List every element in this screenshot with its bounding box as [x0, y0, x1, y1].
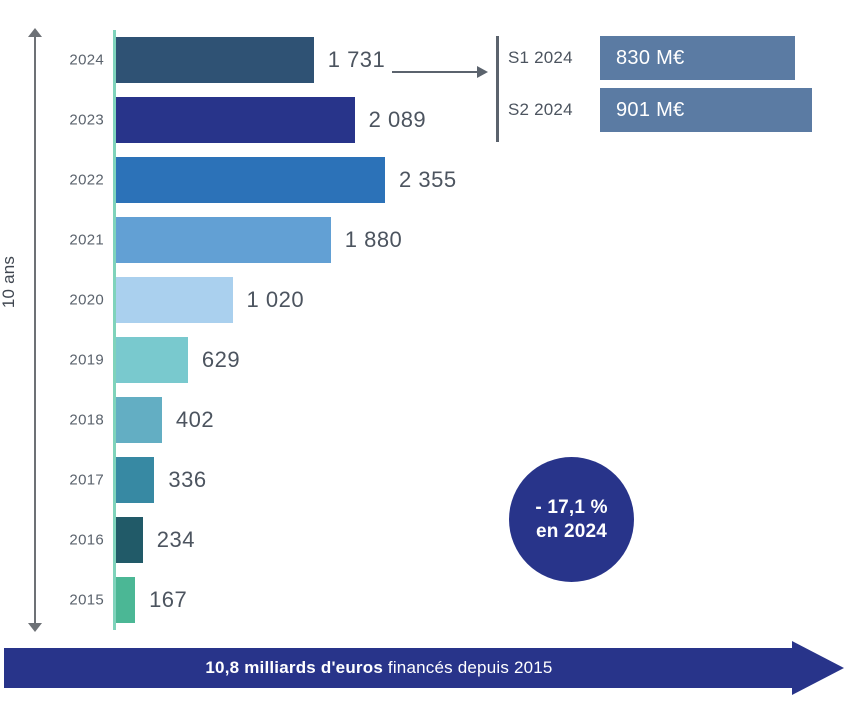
footer-banner-rest-text: financés depuis 2015	[383, 658, 553, 677]
bar-value-label: 336	[168, 467, 206, 493]
bar-rect	[116, 337, 188, 383]
bar-row: 2015167	[0, 570, 500, 630]
bar-value-label: 1 731	[328, 47, 386, 73]
semester-row-s2: S2 2024 901 M€	[496, 88, 816, 132]
connector-line	[392, 71, 478, 73]
bar-row: 20211 880	[0, 210, 500, 270]
bar-rect	[116, 577, 135, 623]
bar-row: 20241 731	[0, 30, 500, 90]
bar-row: 20222 355	[0, 150, 500, 210]
footer-banner-arrowhead-icon	[792, 641, 844, 695]
connector-arrowhead	[477, 66, 488, 78]
bar-row: 2017336	[0, 450, 500, 510]
callout-connector-arrow-icon	[392, 66, 488, 78]
bar-rect	[116, 397, 162, 443]
bar-row: 2019629	[0, 330, 500, 390]
bar-row: 2016234	[0, 510, 500, 570]
bar-category-label: 2023	[40, 112, 104, 129]
bar-category-label: 2020	[40, 292, 104, 309]
footer-banner-body: 10,8 milliards d'euros financés depuis 2…	[4, 648, 794, 688]
semester-value-s2: 901 M€	[600, 99, 685, 122]
semester-row-s1: S1 2024 830 M€	[496, 36, 816, 80]
bar-category-label: 2019	[40, 352, 104, 369]
bar-series: 20241 73120232 08920222 35520211 8802020…	[0, 30, 500, 630]
bar-rect	[116, 37, 314, 83]
bar-row: 20232 089	[0, 90, 500, 150]
variation-badge-year: en 2024	[536, 520, 607, 544]
bar-value-label: 1 880	[345, 227, 403, 253]
bar-value-label: 2 355	[399, 167, 457, 193]
bar-category-label: 2021	[40, 232, 104, 249]
bar-rect	[116, 517, 143, 563]
variation-badge: - 17,1 % en 2024	[509, 457, 634, 582]
bar-row: 20201 020	[0, 270, 500, 330]
footer-banner-bold-text: 10,8 milliards d'euros	[205, 658, 383, 677]
variation-badge-percent: - 17,1 %	[535, 496, 607, 520]
bar-category-label: 2015	[40, 592, 104, 609]
bar-chart-figure: 10 ans 20241 73120232 08920222 35520211 …	[0, 0, 849, 709]
footer-banner-text: 10,8 milliards d'euros financés depuis 2…	[205, 658, 552, 678]
bar-category-label: 2024	[40, 52, 104, 69]
bar-category-label: 2022	[40, 172, 104, 189]
bar-rect	[116, 217, 331, 263]
bar-row: 2018402	[0, 390, 500, 450]
semester-breakdown-panel: S1 2024 830 M€ S2 2024 901 M€	[496, 36, 816, 142]
bar-rect	[116, 97, 355, 143]
bar-rect	[116, 277, 233, 323]
semester-label-s2: S2 2024	[508, 100, 573, 120]
footer-banner: 10,8 milliards d'euros financés depuis 2…	[4, 648, 845, 688]
bar-value-label: 2 089	[369, 107, 427, 133]
bar-value-label: 234	[157, 527, 195, 553]
semester-bar-s2: 901 M€	[600, 88, 812, 132]
semester-bar-s1: 830 M€	[600, 36, 795, 80]
bar-category-label: 2016	[40, 532, 104, 549]
semester-label-s1: S1 2024	[508, 48, 573, 68]
bar-rect	[116, 457, 154, 503]
bar-value-label: 629	[202, 347, 240, 373]
bar-rect	[116, 157, 385, 203]
semester-value-s1: 830 M€	[600, 47, 685, 70]
bar-value-label: 167	[149, 587, 187, 613]
bar-category-label: 2017	[40, 472, 104, 489]
bar-value-label: 1 020	[247, 287, 305, 313]
bar-value-label: 402	[176, 407, 214, 433]
bar-category-label: 2018	[40, 412, 104, 429]
